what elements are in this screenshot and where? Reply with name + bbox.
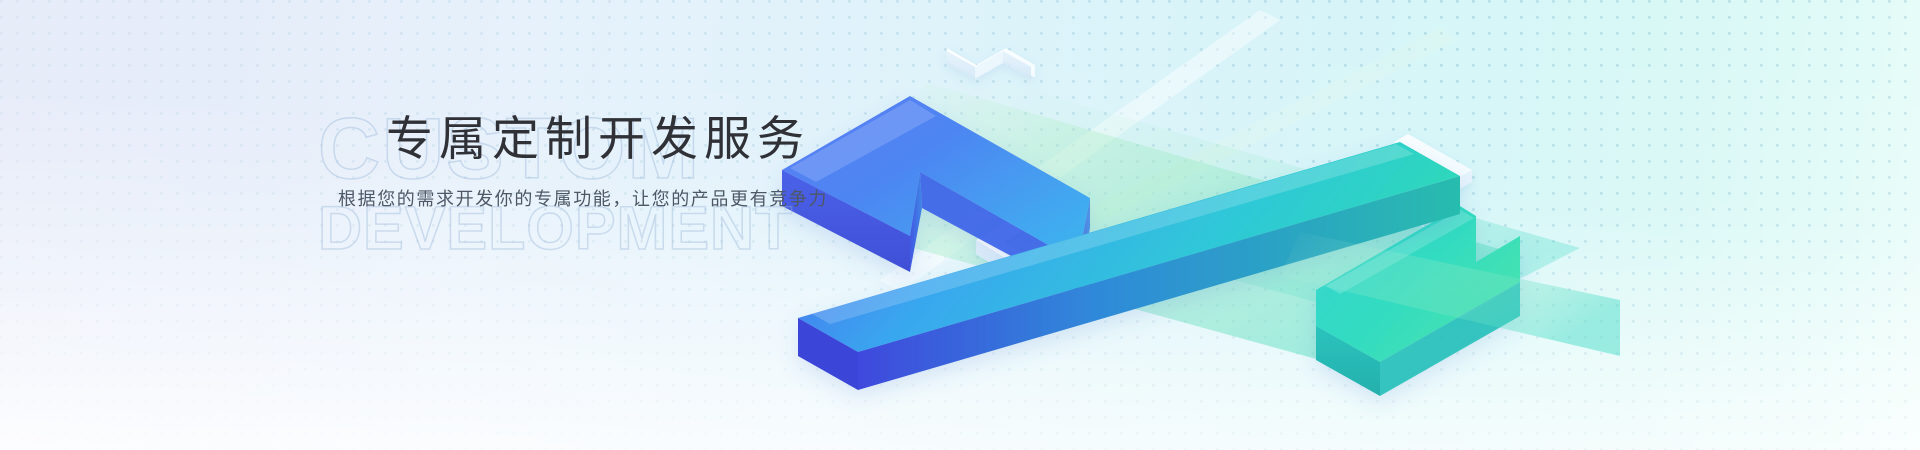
ribbon-green-gradient — [855, 70, 1580, 360]
page-title: 专属定制开发服务 — [386, 100, 810, 169]
ribbon-teal-tail — [1280, 232, 1620, 356]
banner-copy: CUSTOM DEVELOPMENT 专属定制开发服务 根据您的需求开发你的专属… — [0, 0, 900, 450]
page-subtitle: 根据您的需求开发你的专属功能，让您的产品更有竞争力 — [338, 185, 828, 211]
chevron-small-white-far-right — [1384, 166, 1512, 238]
chevron-right-large-teal — [1316, 154, 1600, 398]
decorative-rings — [1080, 223, 1196, 292]
chevron-small-white-right — [1344, 134, 1472, 218]
light-streak — [880, 10, 1456, 312]
chevron-small-white-top — [947, 48, 1035, 79]
custom-development-banner: CUSTOM DEVELOPMENT 专属定制开发服务 根据您的需求开发你的专属… — [0, 0, 1920, 450]
chevron-small-white-bottom — [976, 204, 1054, 294]
